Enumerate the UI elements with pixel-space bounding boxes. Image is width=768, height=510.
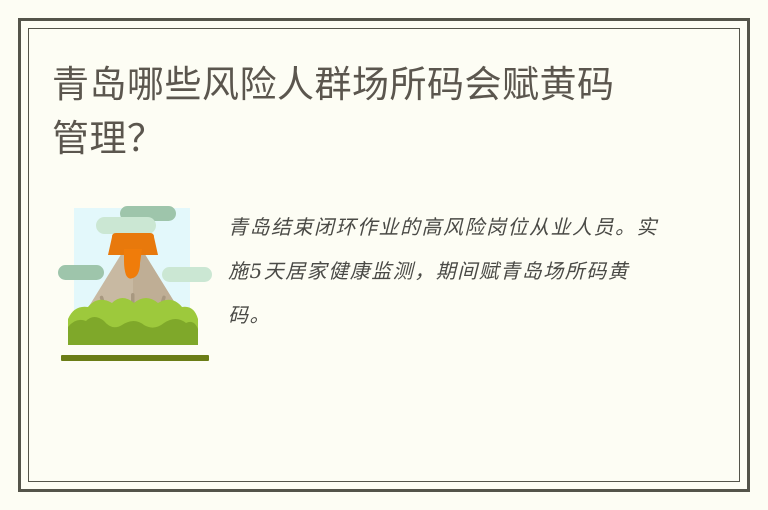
ground-line	[61, 355, 209, 361]
cloud-icon	[96, 217, 156, 234]
card-content: 青岛哪些风险人群场所码会赋黄码管理？	[52, 58, 712, 458]
article-card: 青岛哪些风险人群场所码会赋黄码管理？	[0, 0, 768, 510]
page-title: 青岛哪些风险人群场所码会赋黄码管理？	[52, 58, 632, 166]
volcano-mountain-icon	[68, 233, 198, 345]
article-body-text: 青岛结束闭环作业的高风险岗位从业人员。实施5天居家健康监测，期间赋青岛场所码黄码…	[228, 205, 658, 337]
article-body-block: 青岛结束闭环作业的高风险岗位从业人员。实施5天居家健康监测，期间赋青岛场所码黄码…	[52, 193, 712, 373]
volcano-illustration	[58, 203, 212, 363]
